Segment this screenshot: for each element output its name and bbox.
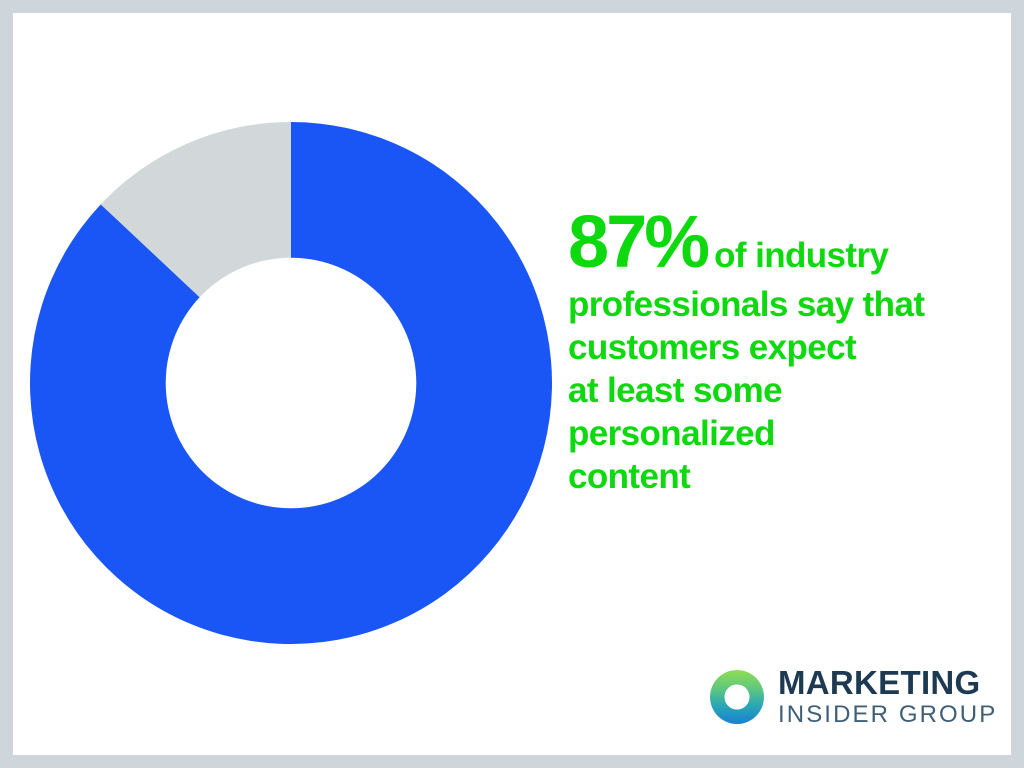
donut-center-hole (166, 258, 417, 509)
donut-chart-svg (30, 122, 552, 644)
brand-logo: MARKETING INSIDER GROUP (710, 665, 1000, 731)
stat-percentage-value: 87% (568, 200, 707, 283)
infographic-canvas: 87%of industry professionals say that cu… (0, 0, 1024, 768)
stat-body-line-4: personalized (568, 416, 998, 451)
stat-body-line-3: at least some (568, 373, 998, 408)
brand-donut-icon (710, 670, 764, 724)
stat-headline: 87%of industry (568, 205, 998, 279)
brand-name-primary: MARKETING (778, 665, 1000, 701)
content-area: 87%of industry professionals say that cu… (13, 13, 1011, 755)
stat-callout: 87%of industry professionals say that cu… (568, 205, 998, 494)
stat-body-line-5: content (568, 459, 998, 494)
stat-body-line-1: professionals say that (568, 287, 998, 322)
donut-chart (30, 122, 552, 644)
brand-name-secondary: INSIDER GROUP (778, 701, 1000, 729)
stat-body-line-2: customers expect (568, 330, 998, 365)
stat-headline-tail: of industry (707, 236, 888, 275)
brand-wordmark: MARKETING INSIDER GROUP (778, 665, 1000, 731)
brand-donut-icon-svg (710, 670, 764, 724)
